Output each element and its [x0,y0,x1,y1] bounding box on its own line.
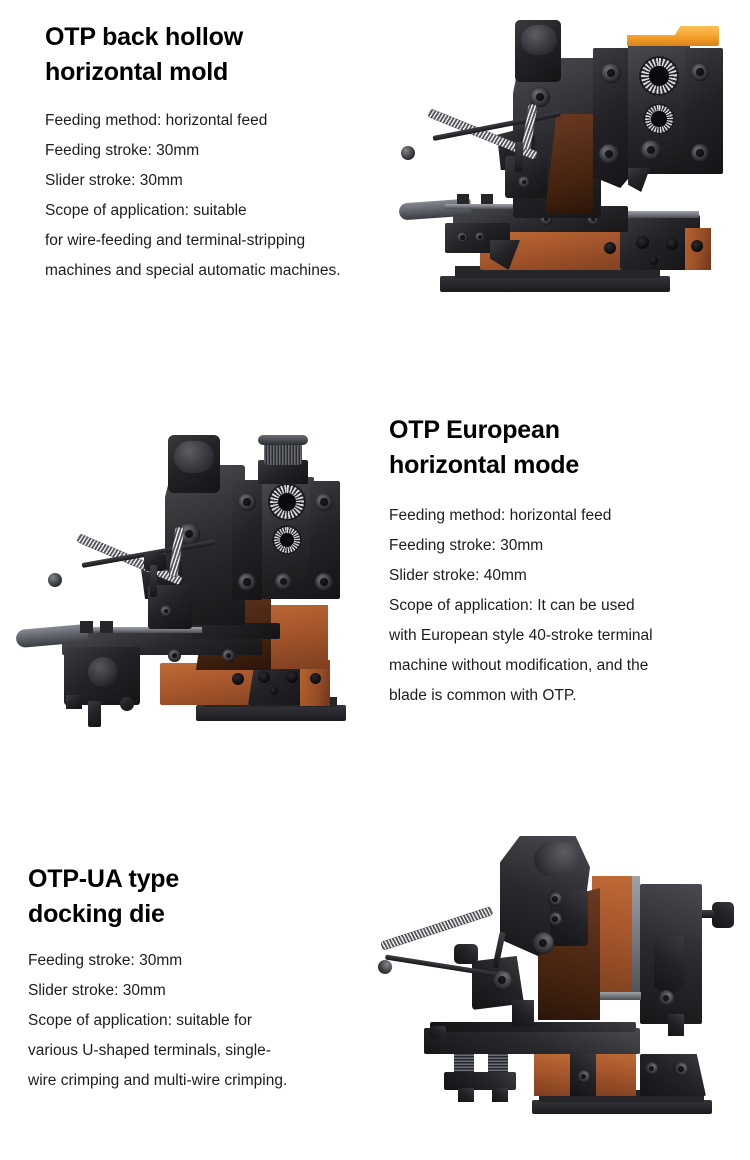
section-otp-european-horizontal-mode: OTP European horizontal mode Feeding met… [389,413,729,711]
spec-item: Feeding method: horizontal feed [389,501,729,531]
section-2-spec-list: Feeding method: horizontal feed Feeding … [389,501,729,711]
spec-item: Feeding stroke: 30mm [389,531,729,561]
section-1-spec-list: Feeding method: horizontal feed Feeding … [45,106,375,286]
spec-item: Feeding stroke: 30mm [28,946,358,976]
section-3-spec-list: Feeding stroke: 30mm Slider stroke: 30mm… [28,946,358,1096]
section-3-heading: OTP-UA type docking die [28,862,358,932]
spec-item: Feeding stroke: 30mm [45,136,375,166]
section-otp-back-hollow-horizontal-mold: OTP back hollow horizontal mold Feeding … [45,20,375,286]
product-photo-2 [0,405,365,750]
section-otp-ua-type-docking-die: OTP-UA type docking die Feeding stroke: … [28,862,358,1096]
section-1-heading: OTP back hollow horizontal mold [45,20,375,90]
spec-item: Slider stroke: 30mm [28,976,358,1006]
product-photo-3 [375,832,740,1150]
spec-item: Scope of application: suitable for wire-… [45,196,375,286]
spec-item: Feeding method: horizontal feed [45,106,375,136]
section-2-heading: OTP European horizontal mode [389,413,729,483]
product-photo-1 [385,8,740,308]
product-spec-page: OTP back hollow horizontal mold Feeding … [0,0,750,1160]
spec-item: Slider stroke: 40mm [389,561,729,591]
spec-item: Scope of application: It can be used wit… [389,591,729,711]
spec-item: Slider stroke: 30mm [45,166,375,196]
spec-item: Scope of application: suitable for vario… [28,1006,358,1096]
